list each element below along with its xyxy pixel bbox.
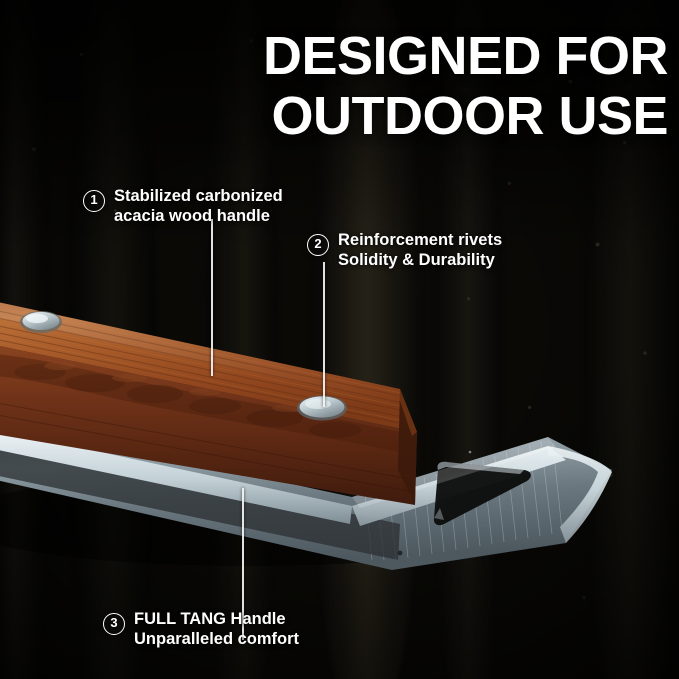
callout-3: 3 FULL TANG Handle Unparalleled comfort: [103, 610, 299, 649]
product-banner: DESIGNED FOR OUTDOOR USE 1 Stabilized ca…: [0, 0, 679, 679]
callout-3-line-2: Unparalleled comfort: [134, 630, 299, 650]
headline-line-1: DESIGNED FOR: [168, 26, 668, 86]
callout-2: 2 Reinforcement rivets Solidity & Durabi…: [307, 231, 502, 270]
leader-line-1: [211, 219, 213, 376]
callout-1-text: Stabilized carbonized acacia wood handle: [114, 187, 283, 226]
callout-number-3-icon: 3: [103, 613, 125, 635]
headline: DESIGNED FOR OUTDOOR USE: [168, 26, 668, 146]
leader-line-2: [323, 262, 325, 407]
callout-2-line-2: Solidity & Durability: [338, 251, 502, 271]
callout-2-line-1: Reinforcement rivets: [338, 231, 502, 251]
callout-number-2-icon: 2: [307, 234, 329, 256]
callout-1-line-1: Stabilized carbonized: [114, 187, 283, 207]
callout-2-text: Reinforcement rivets Solidity & Durabili…: [338, 231, 502, 270]
callout-1: 1 Stabilized carbonized acacia wood hand…: [83, 187, 283, 226]
callout-1-line-2: acacia wood handle: [114, 207, 283, 227]
callout-3-text: FULL TANG Handle Unparalleled comfort: [134, 610, 299, 649]
callout-3-line-1: FULL TANG Handle: [134, 610, 299, 630]
callout-number-1-icon: 1: [83, 190, 105, 212]
headline-line-2: OUTDOOR USE: [168, 86, 668, 146]
